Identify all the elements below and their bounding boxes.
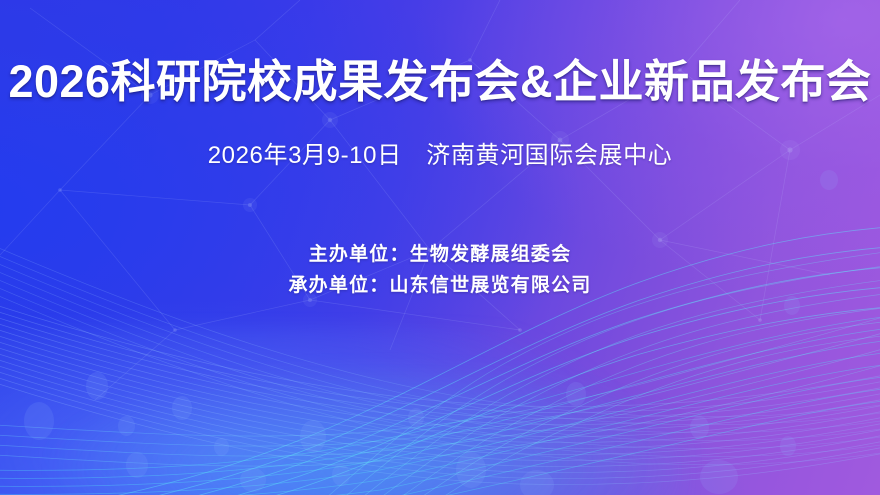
event-date-venue: 2026年3月9-10日 济南黄河国际会展中心 xyxy=(0,135,880,170)
event-title: 2026科研院校成果发布会&企业新品发布会 xyxy=(0,58,880,107)
banner-content: 2026科研院校成果发布会&企业新品发布会 2026年3月9-10日 济南黄河国… xyxy=(0,0,880,495)
host-organization: 主办单位：生物发酵展组委会 xyxy=(0,240,880,271)
co-organizer-organization: 承办单位：山东信世展览有限公司 xyxy=(0,271,880,302)
event-banner: 2026科研院校成果发布会&企业新品发布会 2026年3月9-10日 济南黄河国… xyxy=(0,0,880,495)
organizer-block: 主办单位：生物发酵展组委会 承办单位：山东信世展览有限公司 xyxy=(0,240,880,302)
